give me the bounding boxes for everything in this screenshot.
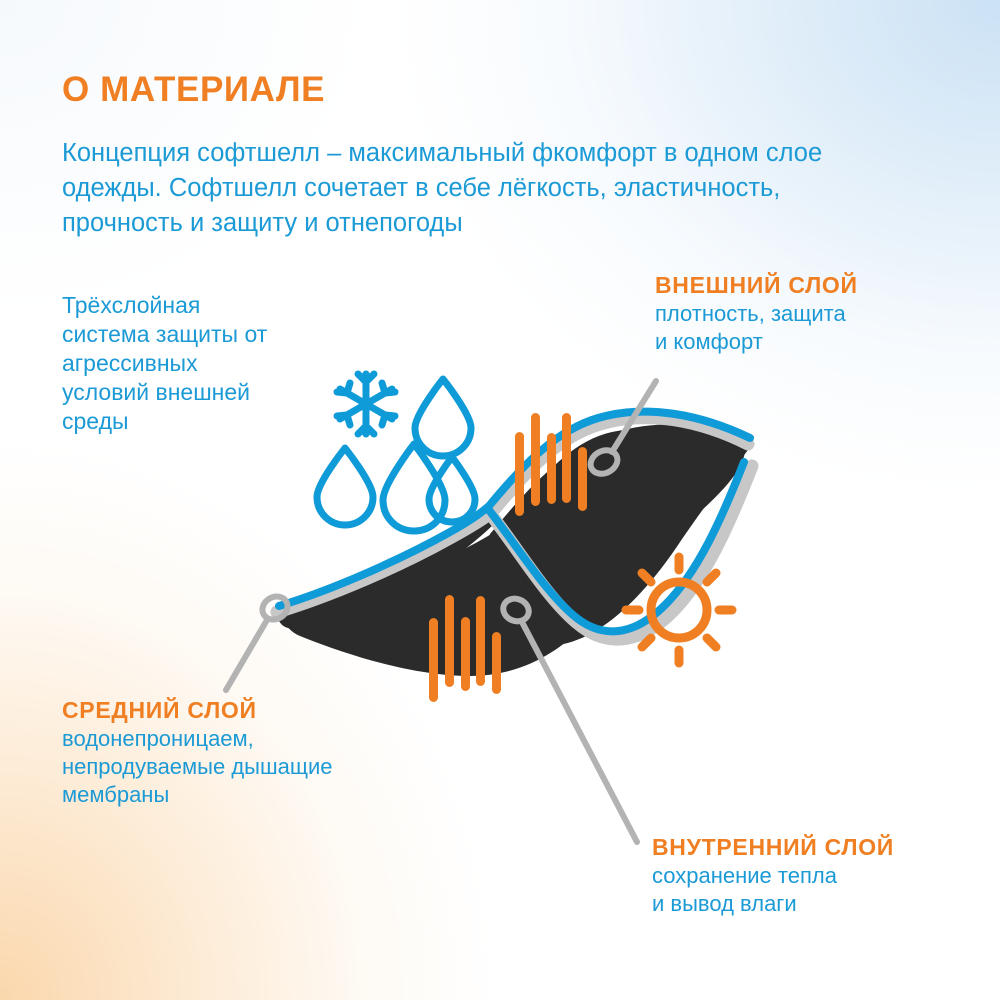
- water-drop-icon-top: [415, 379, 471, 456]
- intro-line-1: Концепция софтшелл – максимальный фкомфо…: [62, 136, 952, 171]
- callout-middle-body-line-2: непродуваемые дышащие: [62, 753, 332, 781]
- callout-middle-body-line-1: водонепроницаем,: [62, 725, 332, 753]
- callout-outer-body-line-1: плотность, защита: [655, 300, 858, 328]
- callout-outer-layer: ВНЕШНИЙ СЛОЙ плотность, защита и комфорт: [655, 270, 858, 356]
- callout-inner-body-line-1: сохранение тепла: [652, 862, 894, 890]
- callout-middle-body-line-3: мембраны: [62, 781, 332, 809]
- page-title: О МАТЕРИАЛЕ: [62, 70, 325, 110]
- infographic-canvas: О МАТЕРИАЛЕ Концепция софтшелл – максима…: [0, 0, 1000, 1000]
- callout-inner-body-line-2: и вывод влаги: [652, 890, 894, 918]
- callout-outer-title: ВНЕШНИЙ СЛОЙ: [655, 270, 858, 300]
- callout-inner-body: сохранение тепла и вывод влаги: [652, 862, 894, 918]
- intro-line-3: прочность и защиту и отнепогоды: [62, 206, 952, 241]
- callout-middle-title: СРЕДНИЙ СЛОЙ: [62, 695, 332, 725]
- side-note-text: Трёхслойная система защиты от агрессивны…: [62, 291, 277, 436]
- snowflake-icon: [337, 374, 395, 434]
- intro-paragraph: Концепция софтшелл – максимальный фкомфо…: [62, 136, 952, 241]
- callout-middle-layer: СРЕДНИЙ СЛОЙ водонепроницаем, непродувае…: [62, 695, 332, 809]
- callout-middle-body: водонепроницаем, непродуваемые дышащие м…: [62, 725, 332, 809]
- callout-inner-layer: ВНУТРЕННИЙ СЛОЙ сохранение тепла и вывод…: [652, 832, 894, 918]
- callout-inner-title: ВНУТРЕННИЙ СЛОЙ: [652, 832, 894, 862]
- callout-outer-body-line-2: и комфорт: [655, 328, 858, 356]
- intro-line-2: одежды. Софтшелл сочетает в себе лёгкост…: [62, 171, 952, 206]
- callout-outer-body: плотность, защита и комфорт: [655, 300, 858, 356]
- water-drop-icon-left: [317, 448, 373, 525]
- water-drops-pair-icon: [383, 444, 475, 531]
